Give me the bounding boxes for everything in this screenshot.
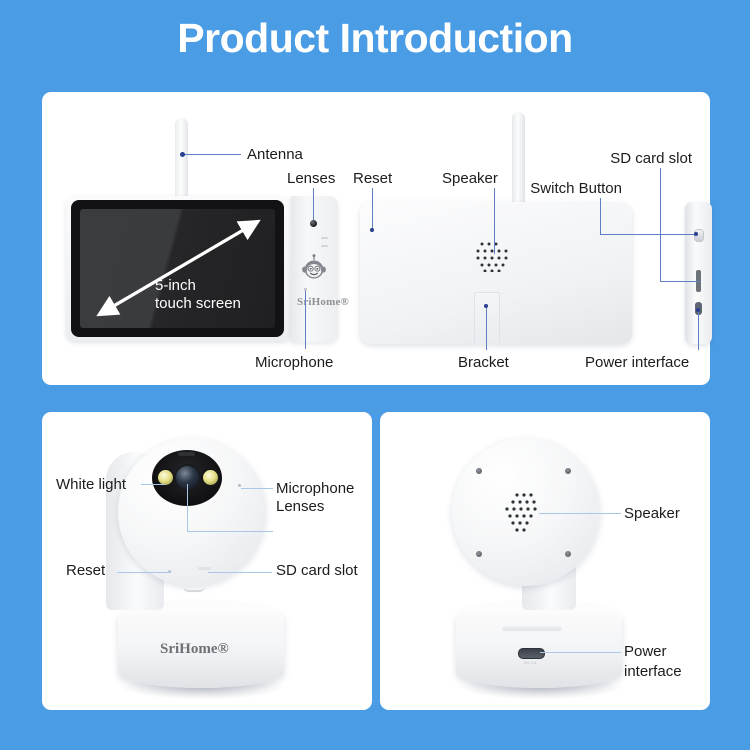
leader-dot-antenna	[180, 152, 185, 157]
white-light-led-left	[158, 470, 173, 485]
camera-head-seam	[183, 586, 205, 592]
leader-microphone-monitor	[305, 291, 306, 349]
leader-lenses-camera-h	[187, 531, 273, 532]
label-power-interface-monitor: Power interface	[585, 354, 689, 371]
diagonal-arrow-icon	[71, 200, 284, 337]
screw-bottom-left	[476, 551, 482, 557]
label-lenses-camera: Lenses	[276, 498, 324, 515]
leader-switch-h	[600, 234, 697, 235]
panel-monitor-views: 5-inch touch screen SriHome®	[42, 92, 710, 385]
label-switch-button: Switch Button	[494, 180, 622, 197]
leader-speaker-monitor	[494, 188, 495, 254]
leader-reset-camera	[117, 572, 171, 573]
label-sd-card-slot-camera: SD card slot	[276, 562, 358, 579]
leader-sd-card-v	[660, 168, 661, 282]
screen-caption-line2: touch screen	[155, 295, 241, 313]
label-reset-camera: Reset	[66, 562, 105, 579]
lens-hole	[310, 220, 317, 227]
leader-power-monitor	[698, 312, 699, 350]
leader-microphone-camera	[241, 488, 273, 489]
leader-dot-reset-monitor	[370, 228, 374, 232]
leader-dot-bracket	[484, 304, 488, 308]
camera-base-back	[456, 602, 622, 688]
leader-bracket	[486, 306, 487, 350]
leader-power-interface-camera	[540, 652, 621, 653]
screw-top-right	[565, 468, 571, 474]
leader-sd-card-h	[660, 281, 701, 282]
camera-top-sensor	[178, 452, 195, 456]
page-title: Product Introduction	[0, 14, 750, 63]
led-indicator-2	[321, 245, 328, 247]
leader-speaker-camera	[539, 513, 621, 514]
panel-camera-front-view: SriHome® White light Microphone Lenses R…	[42, 412, 372, 710]
leader-white-light	[141, 484, 165, 485]
label-speaker-monitor: Speaker	[442, 170, 498, 187]
bracket-stand	[474, 292, 500, 345]
label-microphone-camera: Microphone	[276, 480, 354, 497]
leader-lenses-camera-v	[187, 484, 188, 532]
robot-face-icon	[301, 254, 327, 281]
power-interface-port-camera	[518, 648, 545, 659]
port-marking-text: 5V 2A	[518, 660, 543, 665]
label-power-interface-line1: Power	[624, 642, 704, 662]
leader-reset-monitor	[372, 188, 373, 230]
white-light-led-right	[203, 470, 218, 485]
label-lenses: Lenses	[287, 170, 335, 187]
speaker-grille-icon-camera	[504, 492, 544, 532]
leader-sd-card-camera	[208, 572, 272, 573]
monitor-illustration: 5-inch touch screen SriHome®	[42, 92, 710, 385]
screen-caption-line1: 5-inch	[155, 277, 241, 295]
leader-antenna	[183, 154, 241, 155]
microphone-hole-camera	[238, 484, 241, 487]
label-microphone-monitor: Microphone	[255, 354, 333, 371]
label-power-interface-line2: interface	[624, 662, 704, 682]
label-reset-monitor: Reset	[353, 170, 392, 187]
panel-camera-back-view: 5V 2A Speaker Power interface	[380, 412, 710, 710]
label-bracket: Bracket	[458, 354, 509, 371]
brand-logo-camera-front: SriHome®	[160, 641, 229, 658]
sd-card-slot-camera	[198, 567, 211, 570]
led-indicator-1	[321, 237, 328, 239]
screw-bottom-right	[565, 551, 571, 557]
camera-base-lip	[502, 626, 562, 631]
leader-dot-switch	[694, 232, 698, 236]
label-white-light: White light	[56, 476, 126, 493]
label-antenna: Antenna	[247, 146, 303, 163]
screw-top-left	[476, 468, 482, 474]
label-power-interface-camera: Power interface	[624, 642, 704, 682]
leader-dot-power-monitor	[696, 308, 700, 312]
leader-switch-v	[600, 198, 601, 235]
screen-size-caption: 5-inch touch screen	[155, 277, 241, 313]
label-sd-card-slot-monitor: SD card slot	[560, 150, 692, 167]
leader-lenses	[313, 188, 314, 220]
label-speaker-camera: Speaker	[624, 505, 680, 522]
